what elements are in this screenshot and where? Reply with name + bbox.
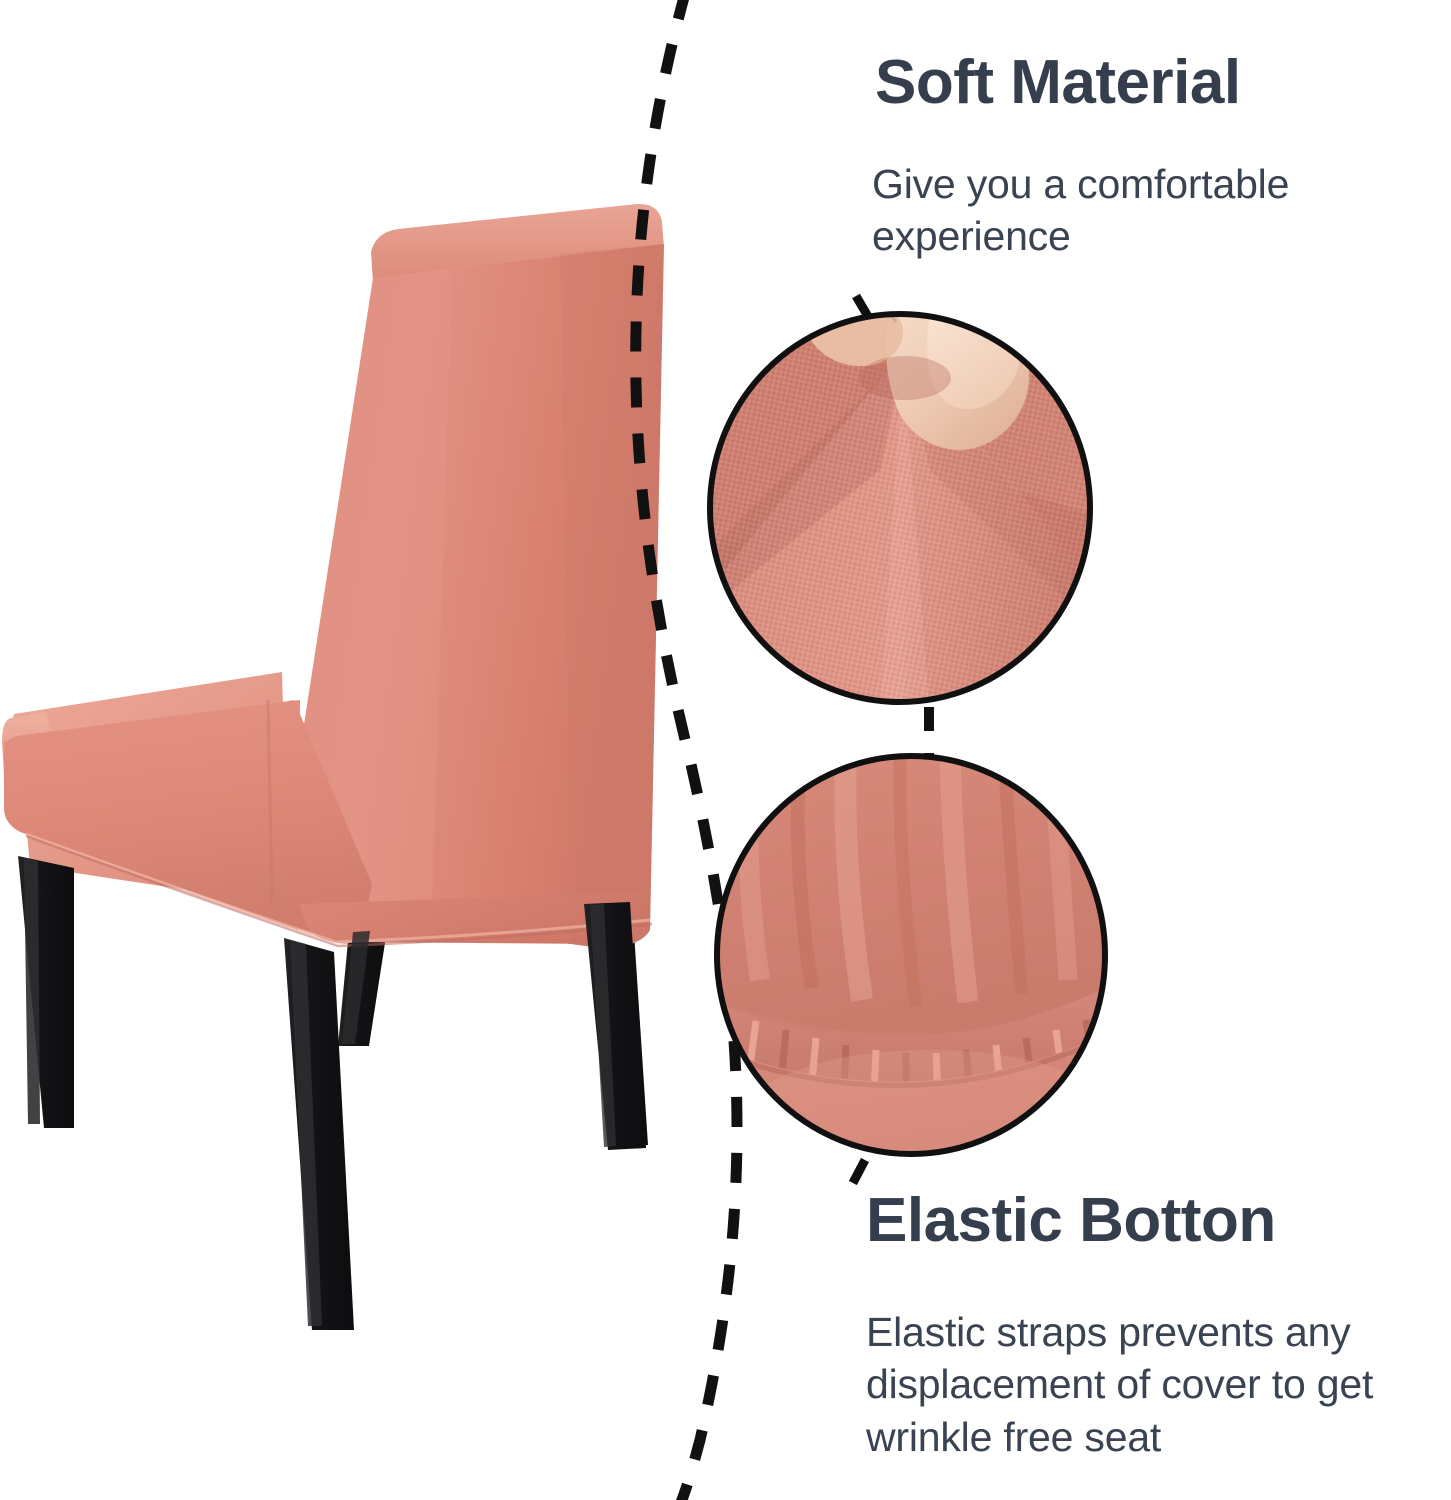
elastic-bottom-detail-circle <box>710 750 1122 1190</box>
leader-bottom-callout <box>846 1160 865 1196</box>
infographic-canvas: Soft Material Give you a comfortable exp… <box>0 0 1451 1500</box>
soft-material-detail-circle <box>700 291 1110 720</box>
chair-illustration <box>2 204 664 1330</box>
soft-material-body: Give you a comfortable experience <box>872 158 1412 263</box>
elastic-botton-body: Elastic straps prevents any displacement… <box>866 1306 1436 1463</box>
elastic-botton-heading: Elastic Botton <box>866 1188 1276 1253</box>
soft-material-heading: Soft Material <box>875 50 1241 115</box>
